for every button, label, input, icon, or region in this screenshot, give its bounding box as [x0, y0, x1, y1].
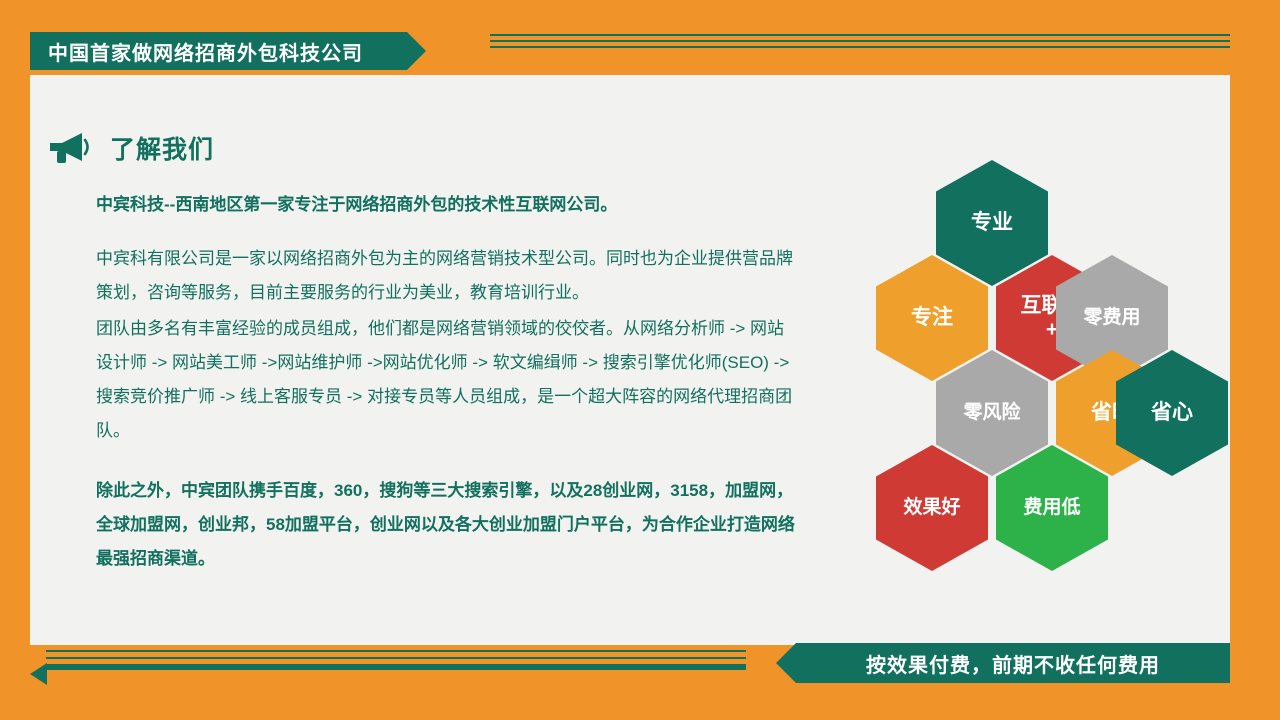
section-heading: 了解我们	[48, 130, 214, 166]
hexagon-label: 费用低	[1023, 496, 1080, 520]
hexagon-label: 专业	[971, 211, 1013, 235]
footer-banner: 按效果付费，前期不收任何费用	[796, 643, 1230, 683]
slide-root: 中国首家做网络招商外包科技公司 了解我们 中宾科技--西南地区第一家专注于网络招…	[0, 0, 1280, 720]
hexagon-cluster: 专业专注互联网+零费用零风险省时省心效果好费用低	[836, 160, 1236, 550]
footer-left-arrow-shape	[30, 663, 47, 685]
hexagon-label: 专注	[911, 306, 953, 330]
megaphone-icon	[48, 130, 92, 166]
top-decorative-lines	[490, 34, 1230, 52]
footer-arrow-shape	[776, 643, 796, 683]
hexagon-label: 效果好	[903, 496, 960, 520]
banner-arrow-shape	[407, 32, 426, 70]
header-banner-title: 中国首家做网络招商外包科技公司	[48, 37, 363, 66]
about-text-column: 中宾科技--西南地区第一家专注于网络招商外包的技术性互联网公司。 中宾科有限公司…	[96, 190, 796, 576]
about-paragraph-2: 团队由多名有丰富经验的成员组成，他们都是网络营销领域的佼佼者。从网络分析师 ->…	[96, 312, 796, 448]
section-title: 了解我们	[110, 130, 214, 166]
header-banner: 中国首家做网络招商外包科技公司	[30, 32, 407, 70]
about-lead-text: 中宾科技--西南地区第一家专注于网络招商外包的技术性互联网公司。	[96, 190, 796, 220]
about-paragraph-1: 中宾科有限公司是一家以网络招商外包为主的网络营销技术型公司。同时也为企业提供营品…	[96, 242, 796, 310]
footer-banner-text: 按效果付费，前期不收任何费用	[866, 649, 1160, 678]
bottom-decorative-lines	[46, 650, 746, 670]
hexagon-label: 零风险	[963, 401, 1020, 425]
hexagon-label: 零费用	[1083, 306, 1140, 330]
about-closing-text: 除此之外，中宾团队携手百度，360，搜狗等三大搜索引擎，以及28创业网，3158…	[96, 474, 796, 576]
hexagon-label: 省心	[1151, 401, 1193, 425]
